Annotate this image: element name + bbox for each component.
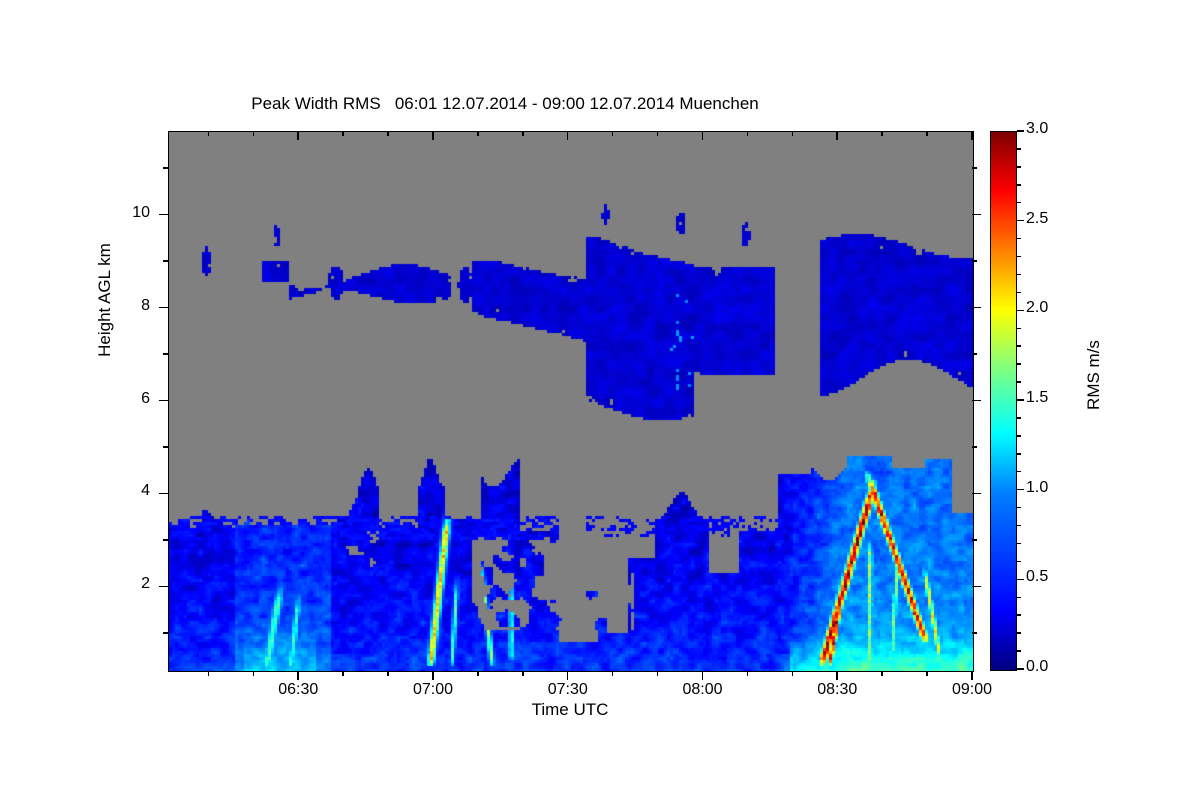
colorbar-minor-tick <box>1017 417 1021 419</box>
y-axis-tick <box>159 307 168 309</box>
x-axis-tick <box>836 671 838 680</box>
y-axis-minor-tick-right <box>972 539 977 541</box>
x-axis-minor-tick <box>792 671 794 676</box>
colorbar-minor-tick <box>1017 453 1021 455</box>
y-axis-minor-tick-right <box>972 260 977 262</box>
colorbar-minor-tick <box>1017 274 1021 276</box>
x-axis-minor-tick-top <box>387 131 389 136</box>
x-axis-tick-top <box>432 131 434 140</box>
colorbar-minor-tick <box>1017 381 1021 383</box>
colorbar-minor-tick <box>1017 328 1021 330</box>
heatmap-data-layer <box>169 132 973 671</box>
y-axis-minor-tick-right <box>972 446 977 448</box>
y-axis-tick-label: 6 <box>110 390 150 408</box>
y-axis-tick-label: 4 <box>110 482 150 500</box>
x-axis-tick <box>702 671 704 680</box>
x-axis-tick <box>432 671 434 680</box>
x-axis-minor-tick <box>342 671 344 676</box>
colorbar-minor-tick <box>1017 561 1021 563</box>
x-axis-tick-top <box>702 131 704 140</box>
y-axis-minor-tick <box>163 260 168 262</box>
y-axis-tick <box>159 586 168 588</box>
x-axis-label: Time UTC <box>168 700 972 720</box>
heatmap-plot-area[interactable] <box>168 131 974 672</box>
colorbar-minor-tick <box>1017 525 1021 527</box>
colorbar-tick-label: 0.0 <box>1026 658 1048 676</box>
colorbar-tick <box>1017 220 1024 222</box>
x-axis-tick-top <box>297 131 299 140</box>
y-axis-minor-tick <box>163 539 168 541</box>
y-axis-tick-label: 2 <box>110 575 150 593</box>
colorbar-minor-tick <box>1017 148 1021 150</box>
x-axis-tick-label: 08:00 <box>657 681 747 699</box>
colorbar-tick-label: 2.5 <box>1026 210 1048 228</box>
colorbar-minor-tick <box>1017 435 1021 437</box>
x-axis-minor-tick <box>747 671 749 676</box>
colorbar-minor-tick <box>1017 238 1021 240</box>
x-axis-minor-tick-top <box>208 131 210 136</box>
x-axis-tick <box>971 671 973 680</box>
y-axis-minor-tick-right <box>972 353 977 355</box>
x-axis-tick-label: 07:00 <box>388 681 478 699</box>
colorbar-tick <box>1017 310 1024 312</box>
x-axis-minor-tick-top <box>657 131 659 136</box>
x-axis-minor-tick <box>253 671 255 676</box>
colorbar-minor-tick <box>1017 184 1021 186</box>
x-axis-minor-tick <box>881 671 883 676</box>
x-axis-tick-label: 06:30 <box>253 681 343 699</box>
colorbar-tick-label: 0.5 <box>1026 568 1048 586</box>
page-title: Peak Width RMS 06:01 12.07.2014 - 09:00 … <box>0 94 1010 114</box>
y-axis-tick-right <box>972 307 981 309</box>
colorbar-minor-tick <box>1017 256 1021 258</box>
colorbar-tick-label: 2.0 <box>1026 299 1048 317</box>
y-axis-tick-right <box>972 493 981 495</box>
colorbar-minor-tick <box>1017 507 1021 509</box>
x-axis-minor-tick-top <box>342 131 344 136</box>
colorbar-tick <box>1017 489 1024 491</box>
y-axis-tick-label: 10 <box>110 204 150 222</box>
x-axis-tick-top <box>971 131 973 140</box>
colorbar-tick <box>1017 399 1024 401</box>
y-axis-minor-tick <box>163 167 168 169</box>
colorbar-minor-tick <box>1017 632 1021 634</box>
colorbar-minor-tick <box>1017 597 1021 599</box>
x-axis-minor-tick-top <box>926 131 928 136</box>
colorbar-tick <box>1017 579 1024 581</box>
y-axis-tick-right <box>972 214 981 216</box>
y-axis-minor-tick-right <box>972 167 977 169</box>
y-axis-minor-tick-right <box>972 632 977 634</box>
colorbar-minor-tick <box>1017 614 1021 616</box>
colorbar-tick <box>1017 130 1024 132</box>
y-axis-minor-tick <box>163 353 168 355</box>
colorbar-minor-tick <box>1017 363 1021 365</box>
x-axis-minor-tick <box>657 671 659 676</box>
x-axis-tick-label: 07:30 <box>523 681 613 699</box>
x-axis-tick <box>567 671 569 680</box>
colorbar-tick-label: 1.0 <box>1026 479 1048 497</box>
x-axis-minor-tick <box>208 671 210 676</box>
colorbar-minor-tick <box>1017 650 1021 652</box>
x-axis-tick-label: 09:00 <box>927 681 1017 699</box>
x-axis-minor-tick <box>612 671 614 676</box>
colorbar-minor-tick <box>1017 543 1021 545</box>
colorbar-label: RMS m/s <box>1084 275 1104 475</box>
colorbar-tick-label: 1.5 <box>1026 389 1048 407</box>
colorbar-tick <box>1017 668 1024 670</box>
y-axis-tick <box>159 493 168 495</box>
colorbar-minor-tick <box>1017 345 1021 347</box>
x-axis-minor-tick-top <box>612 131 614 136</box>
x-axis-minor-tick-top <box>253 131 255 136</box>
colorbar-minor-tick <box>1017 166 1021 168</box>
y-axis-tick-right <box>972 400 981 402</box>
y-axis-minor-tick <box>163 632 168 634</box>
x-axis-minor-tick-top <box>881 131 883 136</box>
colorbar-minor-tick <box>1017 292 1021 294</box>
x-axis-minor-tick <box>477 671 479 676</box>
colorbar-minor-tick <box>1017 202 1021 204</box>
y-axis-tick-right <box>972 586 981 588</box>
y-axis-tick <box>159 400 168 402</box>
x-axis-minor-tick <box>387 671 389 676</box>
x-axis-minor-tick <box>522 671 524 676</box>
colorbar-minor-tick <box>1017 471 1021 473</box>
x-axis-tick-top <box>567 131 569 140</box>
x-axis-minor-tick-top <box>477 131 479 136</box>
figure-canvas: Peak Width RMS 06:01 12.07.2014 - 09:00 … <box>0 0 1200 800</box>
y-axis-tick-label: 8 <box>110 297 150 315</box>
x-axis-minor-tick <box>926 671 928 676</box>
x-axis-minor-tick-top <box>747 131 749 136</box>
y-axis-label: Height AGL km <box>95 190 115 410</box>
x-axis-minor-tick-top <box>522 131 524 136</box>
y-axis-tick <box>159 214 168 216</box>
x-axis-minor-tick-top <box>792 131 794 136</box>
x-axis-tick-label: 08:30 <box>792 681 882 699</box>
x-axis-tick <box>297 671 299 680</box>
y-axis-minor-tick <box>163 446 168 448</box>
x-axis-tick-top <box>836 131 838 140</box>
colorbar-tick-label: 3.0 <box>1026 120 1048 138</box>
colorbar-gradient[interactable] <box>990 131 1017 671</box>
